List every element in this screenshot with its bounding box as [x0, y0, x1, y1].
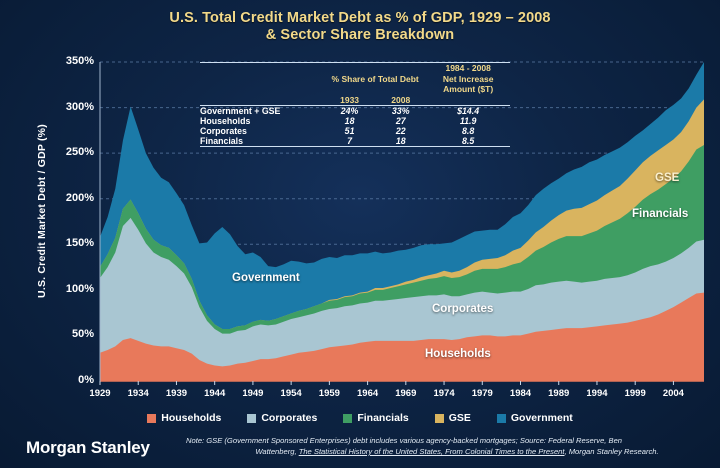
y-tick-label: 0%: [42, 374, 94, 386]
legend-label: Corporates: [261, 412, 317, 424]
source-note-author: Wattenberg,: [255, 447, 298, 456]
table-cell-share-2008: 33%: [375, 106, 426, 116]
legend-item-households[interactable]: Households: [147, 412, 221, 424]
table-header-share: % Share of Total Debt: [324, 63, 426, 95]
legend-label: Households: [161, 412, 221, 424]
table-row: Corporates51228.8: [200, 126, 510, 136]
chart-legend: HouseholdsCorporatesFinancialsGSEGovernm…: [0, 412, 720, 424]
table-cell-share-1933: 18: [324, 116, 375, 126]
source-note-publisher: , Morgan Stanley Research.: [565, 447, 659, 456]
legend-label: GSE: [449, 412, 471, 424]
table-cell-net-increase: 8.8: [426, 126, 510, 136]
table-cell-share-2008: 18: [375, 136, 426, 146]
table-cell-net-increase: $14.4: [426, 106, 510, 116]
y-tick-label: 50%: [42, 328, 94, 340]
table-cell-share-2008: 22: [375, 126, 426, 136]
x-tick-label: 2004: [653, 388, 693, 399]
table-header-year-1933: 1933: [324, 95, 375, 106]
x-tick-label: 1949: [233, 388, 273, 399]
table-cell-share-1933: 7: [324, 136, 375, 146]
y-tick-label: 350%: [42, 55, 94, 67]
table-row: Households182711.9: [200, 116, 510, 126]
table-row-label: Government + GSE: [200, 106, 324, 116]
x-tick-label: 1944: [195, 388, 235, 399]
sector-share-table-body: Government + GSE24%33%$14.4Households182…: [200, 106, 510, 146]
table-cell-net-increase: 8.5: [426, 136, 510, 146]
legend-swatch-icon: [343, 414, 352, 423]
legend-swatch-icon: [247, 414, 256, 423]
x-tick-label: 1999: [615, 388, 655, 399]
table-row-label: Financials: [200, 136, 324, 146]
y-tick-label: 250%: [42, 146, 94, 158]
legend-label: Financials: [357, 412, 408, 424]
legend-label: Government: [511, 412, 573, 424]
x-tick-label: 1984: [501, 388, 541, 399]
x-tick-label: 1969: [386, 388, 426, 399]
legend-item-corporates[interactable]: Corporates: [247, 412, 317, 424]
x-tick-label: 1939: [156, 388, 196, 399]
slide-canvas: U.S. Total Credit Market Debt as % of GD…: [0, 0, 720, 468]
y-tick-label: 100%: [42, 283, 94, 295]
table-row: Government + GSE24%33%$14.4: [200, 106, 510, 116]
series-label-gse: GSE: [655, 172, 679, 184]
x-tick-label: 1994: [577, 388, 617, 399]
legend-item-gse[interactable]: GSE: [435, 412, 471, 424]
net-increase-line-3: Amount ($T): [426, 84, 510, 95]
series-label-government: Government: [232, 272, 300, 284]
x-tick-label: 1954: [271, 388, 311, 399]
table-cell-share-1933: 24%: [324, 106, 375, 116]
table-header-net-increase: 1984 - 2008 Net Increase Amount ($T): [426, 63, 510, 95]
y-tick-label: 300%: [42, 101, 94, 113]
table-cell-share-1933: 51: [324, 126, 375, 136]
source-note-line-2: Wattenberg, The Statistical History of t…: [186, 446, 710, 457]
legend-item-government[interactable]: Government: [497, 412, 573, 424]
x-tick-label: 1959: [309, 388, 349, 399]
table-cell-net-increase: 11.9: [426, 116, 510, 126]
x-tick-label: 1979: [462, 388, 502, 399]
legend-swatch-icon: [435, 414, 444, 423]
y-tick-label: 150%: [42, 237, 94, 249]
x-tick-label: 1934: [118, 388, 158, 399]
legend-swatch-icon: [147, 414, 156, 423]
x-tick-label: 1989: [539, 388, 579, 399]
table-row: Financials7188.5: [200, 136, 510, 146]
source-note: Note: GSE (Government Sponsored Enterpri…: [186, 435, 710, 457]
sector-share-table: % Share of Total Debt 1984 - 2008 Net In…: [200, 62, 510, 147]
x-tick-label: 1929: [80, 388, 120, 399]
net-increase-line-1: 1984 - 2008: [426, 63, 510, 74]
x-tick-label: 1964: [348, 388, 388, 399]
table-cell-share-2008: 27: [375, 116, 426, 126]
x-tick-label: 1974: [424, 388, 464, 399]
series-label-financials: Financials: [632, 208, 688, 220]
legend-item-financials[interactable]: Financials: [343, 412, 408, 424]
source-note-line-1: Note: GSE (Government Sponsored Enterpri…: [186, 436, 622, 445]
legend-swatch-icon: [497, 414, 506, 423]
table-row-label: Households: [200, 116, 324, 126]
morgan-stanley-logo: Morgan Stanley: [26, 438, 150, 458]
table-row-label: Corporates: [200, 126, 324, 136]
series-label-corporates: Corporates: [432, 303, 493, 315]
net-increase-line-2: Net Increase: [426, 74, 510, 85]
table-bottom-rule: [200, 146, 510, 147]
y-tick-label: 200%: [42, 192, 94, 204]
source-note-book-title: The Statistical History of the United St…: [299, 447, 565, 456]
table-header-year-2008: 2008: [375, 95, 426, 106]
series-label-households: Households: [425, 348, 491, 360]
slide-footer: Morgan Stanley Note: GSE (Government Spo…: [0, 432, 720, 468]
